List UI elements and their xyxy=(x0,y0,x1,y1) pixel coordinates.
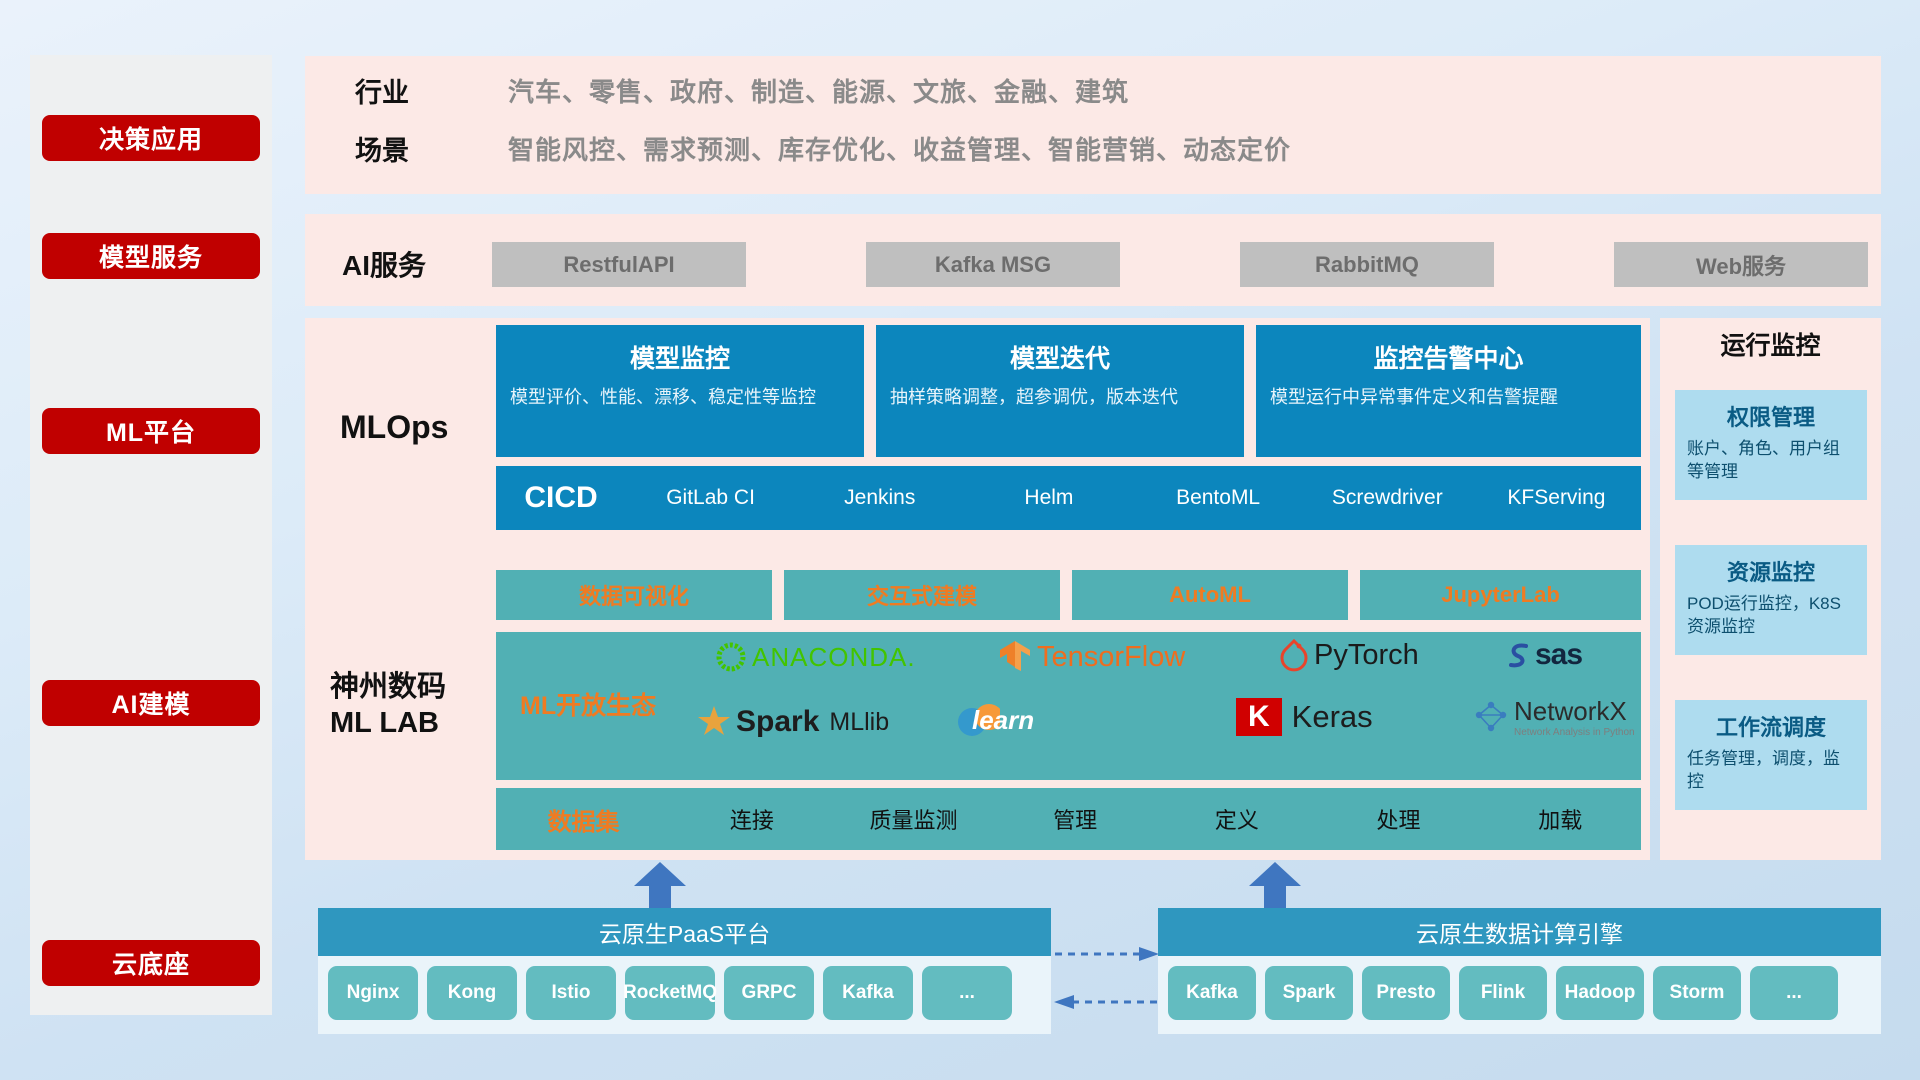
dataset-title: 数据集 xyxy=(496,802,671,837)
anaconda-text: ANACONDA. xyxy=(752,642,916,673)
rail-label: 云底座 xyxy=(112,945,190,981)
rail-label: ML平台 xyxy=(106,413,196,449)
card-desc: 任务管理，调度，监控 xyxy=(1687,748,1855,794)
dataset-item-connect[interactable]: 连接 xyxy=(671,803,833,835)
rail-label: AI建模 xyxy=(111,685,190,721)
industry-label: 行业 xyxy=(355,72,475,108)
chip-label: RestfulAPI xyxy=(563,252,674,278)
chip-label: JupyterLab xyxy=(1441,582,1560,608)
paas-platform-title: 云原生PaaS平台 xyxy=(318,908,1051,956)
data-engine-title: 云原生数据计算引擎 xyxy=(1158,908,1881,956)
mlops-card-model-iteration[interactable]: 模型迭代 抽样策略调整，超参调优，版本迭代 xyxy=(876,325,1244,457)
paas-chip-kafka[interactable]: Kafka xyxy=(823,966,913,1020)
paas-chip-grpc[interactable]: GRPC xyxy=(724,966,814,1020)
paas-chip-rocketmq[interactable]: RocketMQ xyxy=(625,966,715,1020)
paas-chip-nginx[interactable]: Nginx xyxy=(328,966,418,1020)
engine-chip-flink[interactable]: Flink xyxy=(1459,966,1547,1020)
service-chip-web-service[interactable]: Web服务 xyxy=(1614,242,1868,287)
chip-label: 交互式建模 xyxy=(867,579,977,611)
ecosystem-label: ML开放生态 xyxy=(520,686,656,722)
engine-chip-more[interactable]: ... xyxy=(1750,966,1838,1020)
chip-label: RabbitMQ xyxy=(1315,252,1419,278)
keras-mark: K xyxy=(1236,698,1282,736)
dataset-item-definition[interactable]: 定义 xyxy=(1156,803,1318,835)
chip-label: Web服务 xyxy=(1696,249,1786,281)
card-title: 权限管理 xyxy=(1687,400,1855,432)
engine-chip-kafka[interactable]: Kafka xyxy=(1168,966,1256,1020)
cicd-item-jenkins[interactable]: Jenkins xyxy=(795,486,964,510)
rail-label: 模型服务 xyxy=(99,238,203,274)
networkx-subtext: Network Analysis in Python xyxy=(1514,727,1635,738)
rail-item-cloud-base[interactable]: 云底座 xyxy=(42,940,260,986)
monitoring-card-resources[interactable]: 资源监控 POD运行监控，K8S资源监控 xyxy=(1675,545,1867,655)
card-desc: 账户、角色、用户组等管理 xyxy=(1687,438,1855,484)
spark-mllib-logo: Spark MLlib xyxy=(694,702,889,742)
engine-chip-storm[interactable]: Storm xyxy=(1653,966,1741,1020)
industry-value: 汽车、零售、政府、制造、能源、文旅、金融、建筑 xyxy=(508,72,1708,108)
ml-ecosystem-panel: ML开放生态 ANACONDA. TensorFlow PyTorch sas … xyxy=(496,632,1641,780)
sas-logo: sas xyxy=(1501,638,1582,672)
monitoring-title: 运行监控 xyxy=(1660,326,1881,362)
tool-chip-automl[interactable]: AutoML xyxy=(1072,570,1348,620)
card-title: 资源监控 xyxy=(1687,555,1855,587)
card-title: 模型监控 xyxy=(510,339,850,375)
card-desc: 抽样策略调整，超参调优，版本迭代 xyxy=(890,385,1230,409)
cicd-bar: CICD GitLab CI Jenkins Helm BentoML Scre… xyxy=(496,466,1641,530)
dataset-item-loading[interactable]: 加载 xyxy=(1479,803,1641,835)
rail-item-decision-apps[interactable]: 决策应用 xyxy=(42,115,260,161)
monitoring-card-workflow[interactable]: 工作流调度 任务管理，调度，监控 xyxy=(1675,700,1867,810)
pytorch-logo: PyTorch xyxy=(1278,638,1419,672)
mlops-card-model-monitoring[interactable]: 模型监控 模型评价、性能、漂移、稳定性等监控 xyxy=(496,325,864,457)
ml-lab-label: 神州数码 ML LAB xyxy=(330,665,520,745)
tensorflow-logo: TensorFlow xyxy=(996,638,1185,676)
mlops-card-alert-center[interactable]: 监控告警中心 模型运行中异常事件定义和告警提醒 xyxy=(1256,325,1641,457)
pytorch-text: PyTorch xyxy=(1314,639,1419,672)
card-desc: POD运行监控，K8S资源监控 xyxy=(1687,593,1855,639)
sas-text: sas xyxy=(1535,638,1582,672)
arrow-up-paas-icon xyxy=(630,862,690,908)
engine-chip-row: Kafka Spark Presto Flink Hadoop Storm ..… xyxy=(1158,956,1881,1030)
engine-chip-hadoop[interactable]: Hadoop xyxy=(1556,966,1644,1020)
cicd-item-helm[interactable]: Helm xyxy=(964,486,1133,510)
tensorflow-text: TensorFlow xyxy=(1037,641,1185,674)
dataset-item-quality-monitoring[interactable]: 质量监测 xyxy=(833,803,995,835)
diagram-canvas: 决策应用 模型服务 ML平台 AI建模 云底座 行业 汽车、零售、政府、制造、能… xyxy=(0,0,1920,1080)
engine-chip-presto[interactable]: Presto xyxy=(1362,966,1450,1020)
dataset-bar: 数据集 连接 质量监测 管理 定义 处理 加载 xyxy=(496,788,1641,850)
paas-chip-kong[interactable]: Kong xyxy=(427,966,517,1020)
ai-service-label: AI服务 xyxy=(342,243,502,285)
bidirectional-link-icon xyxy=(1051,940,1161,1020)
card-desc: 模型运行中异常事件定义和告警提醒 xyxy=(1270,385,1627,409)
chip-label: AutoML xyxy=(1169,582,1251,608)
dataset-item-management[interactable]: 管理 xyxy=(994,803,1156,835)
mllib-text: MLlib xyxy=(829,708,889,737)
dataset-item-processing[interactable]: 处理 xyxy=(1318,803,1480,835)
cicd-item-screwdriver[interactable]: Screwdriver xyxy=(1303,486,1472,510)
card-title: 模型迭代 xyxy=(890,339,1230,375)
tool-chip-interactive-modeling[interactable]: 交互式建模 xyxy=(784,570,1060,620)
tool-chip-data-visualization[interactable]: 数据可视化 xyxy=(496,570,772,620)
tool-chip-jupyterlab[interactable]: JupyterLab xyxy=(1360,570,1641,620)
cicd-title: CICD xyxy=(496,481,626,515)
service-chip-kafka-msg[interactable]: Kafka MSG xyxy=(866,242,1120,287)
scenario-label: 场景 xyxy=(355,130,475,166)
scenario-value: 智能风控、需求预测、库存优化、收益管理、智能营销、动态定价 xyxy=(508,130,1808,166)
rail-label: 决策应用 xyxy=(99,120,203,156)
engine-chip-spark[interactable]: Spark xyxy=(1265,966,1353,1020)
layer-rail: 决策应用 模型服务 ML平台 AI建模 云底座 xyxy=(30,55,272,1015)
keras-text: Keras xyxy=(1292,699,1373,735)
monitoring-card-permissions[interactable]: 权限管理 账户、角色、用户组等管理 xyxy=(1675,390,1867,500)
rail-item-ml-platform[interactable]: ML平台 xyxy=(42,408,260,454)
networkx-logo: NetworkX Network Analysis in Python xyxy=(1471,696,1635,738)
cicd-item-bentoml[interactable]: BentoML xyxy=(1134,486,1303,510)
spark-text: Spark xyxy=(736,705,819,739)
networkx-text: NetworkX xyxy=(1514,696,1635,727)
chip-label: 数据可视化 xyxy=(579,579,689,611)
paas-chip-more[interactable]: ... xyxy=(922,966,1012,1020)
paas-chip-istio[interactable]: Istio xyxy=(526,966,616,1020)
service-chip-restfulapi[interactable]: RestfulAPI xyxy=(492,242,746,287)
card-title: 监控告警中心 xyxy=(1270,339,1627,375)
card-title: 工作流调度 xyxy=(1687,710,1855,742)
cicd-item-gitlab-ci[interactable]: GitLab CI xyxy=(626,486,795,510)
scikit-learn-text: learn xyxy=(972,705,1034,736)
card-desc: 模型评价、性能、漂移、稳定性等监控 xyxy=(510,385,850,409)
ml-lab-line1: 神州数码 xyxy=(330,669,446,705)
service-chip-rabbitmq[interactable]: RabbitMQ xyxy=(1240,242,1494,287)
data-engine-panel: 云原生数据计算引擎 Kafka Spark Presto Flink Hadoo… xyxy=(1158,908,1881,1034)
keras-logo: K Keras xyxy=(1236,698,1373,736)
anaconda-logo: ANACONDA. xyxy=(714,640,916,674)
chip-label: Kafka MSG xyxy=(935,252,1051,278)
arrow-up-engine-icon xyxy=(1245,862,1305,908)
paas-chip-row: Nginx Kong Istio RocketMQ GRPC Kafka ... xyxy=(318,956,1051,1030)
rail-item-model-service[interactable]: 模型服务 xyxy=(42,233,260,279)
paas-platform-panel: 云原生PaaS平台 Nginx Kong Istio RocketMQ GRPC… xyxy=(318,908,1051,1034)
mlops-label: MLOps xyxy=(340,405,510,449)
cicd-item-kfserving[interactable]: KFServing xyxy=(1472,486,1641,510)
scikit-learn-logo: learn xyxy=(956,700,1034,740)
rail-item-ai-modeling[interactable]: AI建模 xyxy=(42,680,260,726)
ml-lab-line2: ML LAB xyxy=(330,705,439,741)
